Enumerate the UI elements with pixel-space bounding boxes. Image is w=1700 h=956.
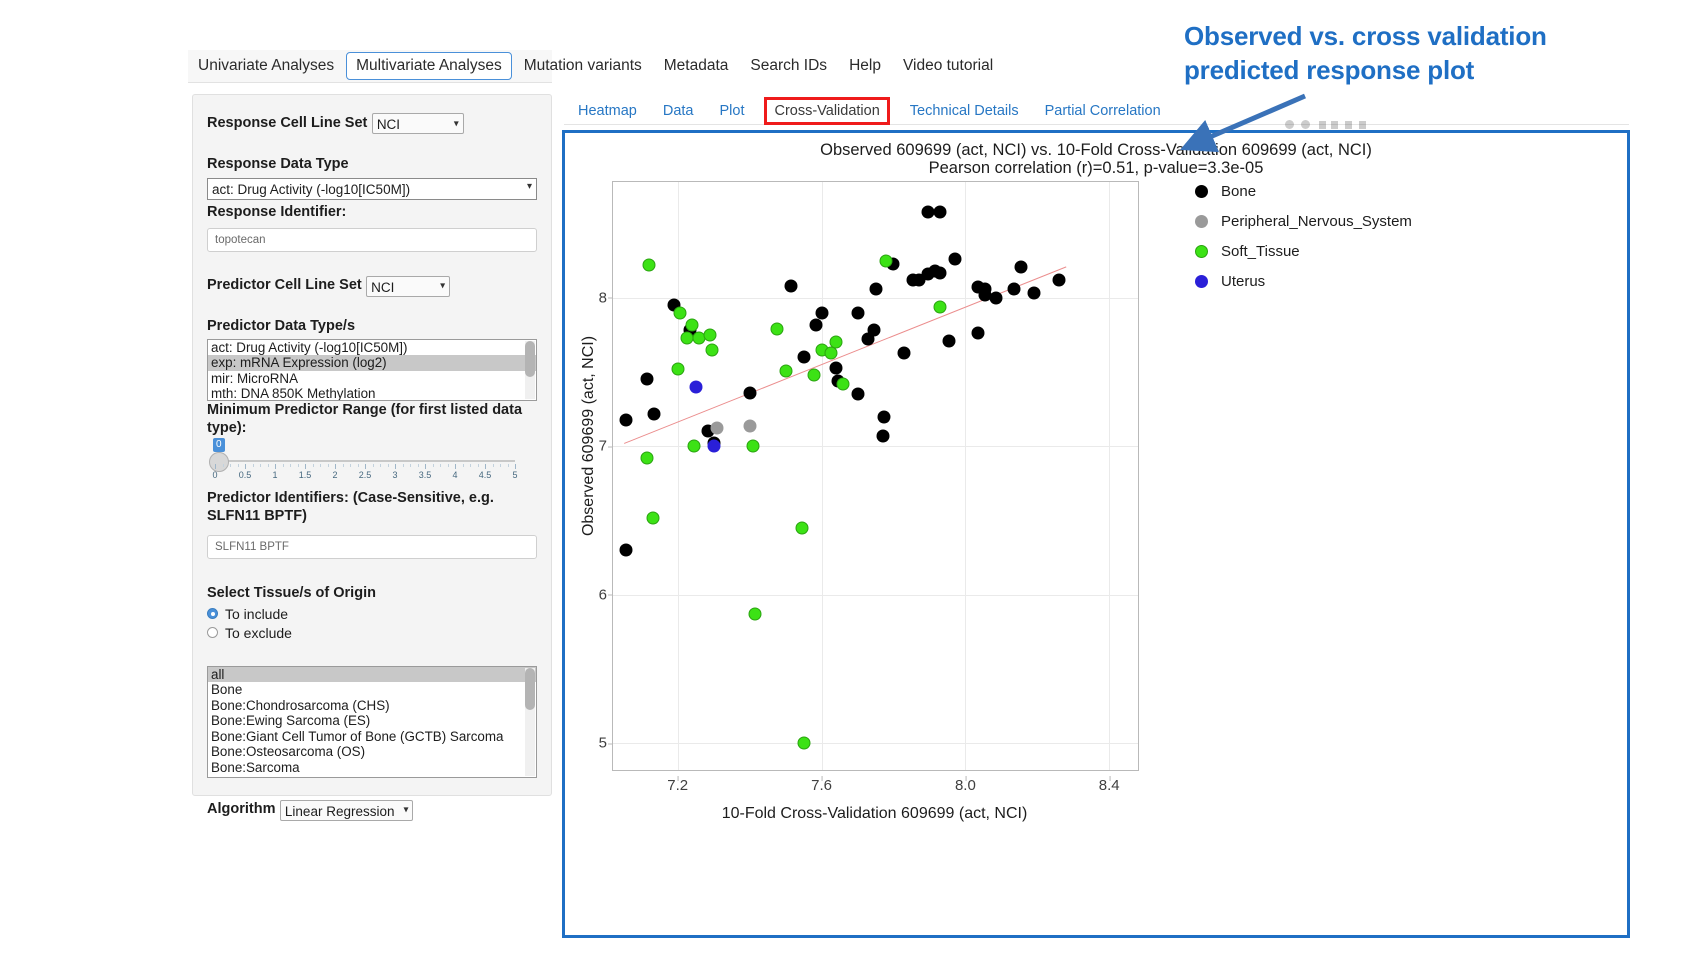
slider-tick-mark bbox=[215, 464, 216, 469]
slider-minor-tick bbox=[260, 464, 261, 467]
legend-color-dot bbox=[1195, 275, 1208, 288]
slider-minor-tick bbox=[373, 464, 374, 467]
chevron-down-icon: ▾ bbox=[527, 181, 532, 192]
gridline-horizontal bbox=[613, 595, 1138, 596]
scatter-point[interactable] bbox=[648, 407, 661, 420]
radio-include-label: To include bbox=[225, 606, 288, 622]
tissue-exclude-radio-row[interactable]: To exclude bbox=[207, 625, 537, 641]
slider-tick-label: 4 bbox=[452, 470, 457, 480]
x-axis-tick-mark bbox=[678, 776, 679, 781]
legend-item[interactable]: Uterus bbox=[1195, 273, 1412, 290]
slider-minor-tick bbox=[433, 464, 434, 467]
slider-minor-tick bbox=[508, 464, 509, 467]
slider-minor-tick bbox=[388, 464, 389, 467]
scatter-point[interactable] bbox=[641, 452, 654, 465]
legend-item-label: Peripheral_Nervous_System bbox=[1221, 213, 1412, 230]
slider-tick-mark bbox=[485, 464, 486, 469]
list-item[interactable]: Bone bbox=[208, 682, 536, 698]
annotation-text: Observed vs. cross validation predicted … bbox=[1184, 20, 1604, 88]
algorithm-select-wrap: Linear Regression ▾ bbox=[280, 800, 414, 821]
list-item[interactable]: mth: DNA 850K Methylation bbox=[208, 386, 536, 401]
legend-color-dot bbox=[1195, 215, 1208, 228]
slider-tick-label: 3.5 bbox=[419, 470, 432, 480]
response-cell-line-set-select[interactable]: NCI bbox=[372, 113, 464, 134]
slider-tick-label: 0 bbox=[212, 470, 217, 480]
scatter-point[interactable] bbox=[829, 361, 842, 374]
legend-color-dot bbox=[1195, 185, 1208, 198]
response-cell-line-set-label: Response Cell Line Set bbox=[207, 115, 367, 133]
tab-partial-correlation[interactable]: Partial Correlation bbox=[1045, 103, 1161, 119]
x-axis-tick-mark bbox=[965, 776, 966, 781]
nav-tab-video-tutorial[interactable]: Video tutorial bbox=[893, 52, 1003, 80]
scatter-point[interactable] bbox=[943, 334, 956, 347]
x-axis-tick-mark bbox=[1109, 776, 1110, 781]
autoscale-icon[interactable] bbox=[1345, 121, 1352, 129]
slider-minor-tick bbox=[238, 464, 239, 467]
nav-tab-mutation-variants[interactable]: Mutation variants bbox=[514, 52, 652, 80]
scatter-point[interactable] bbox=[971, 327, 984, 340]
slider-tick-label: 2 bbox=[332, 470, 337, 480]
scatter-point[interactable] bbox=[898, 346, 911, 359]
scatter-point[interactable] bbox=[743, 386, 756, 399]
slider-tick-mark bbox=[365, 464, 366, 469]
scatter-point[interactable] bbox=[829, 336, 842, 349]
scatter-point[interactable] bbox=[948, 253, 961, 266]
scatter-point[interactable] bbox=[851, 306, 864, 319]
slider-tick-label: 2.5 bbox=[359, 470, 372, 480]
scatter-point[interactable] bbox=[880, 254, 893, 267]
legend-color-dot bbox=[1195, 245, 1208, 258]
scatter-point[interactable] bbox=[1027, 287, 1040, 300]
predictor-data-types-listbox[interactable]: act: Drug Activity (-log10[IC50M]) exp: … bbox=[207, 339, 537, 401]
scatter-point[interactable] bbox=[687, 440, 700, 453]
radio-exclude[interactable] bbox=[207, 627, 218, 638]
annotation-arrow-icon bbox=[1175, 88, 1345, 158]
slider-tick-mark bbox=[305, 464, 306, 469]
legend-item-label: Bone bbox=[1221, 183, 1256, 200]
scatter-point[interactable] bbox=[795, 521, 808, 534]
slider-tick-label: 0.5 bbox=[239, 470, 252, 480]
y-axis-tick-mark bbox=[608, 595, 613, 596]
slider-tick-labels: 00.511.522.533.544.55 bbox=[207, 464, 527, 482]
gridline-vertical bbox=[678, 182, 679, 770]
scrollbar-thumb[interactable] bbox=[525, 341, 535, 377]
plot-title-line2: Pearson correlation (r)=0.51, p-value=3.… bbox=[565, 159, 1627, 177]
slider-minor-tick bbox=[290, 464, 291, 467]
scatter-point[interactable] bbox=[808, 369, 821, 382]
scatter-point[interactable] bbox=[704, 328, 717, 341]
scatter-point[interactable] bbox=[810, 318, 823, 331]
top-navbar: Univariate Analyses Multivariate Analyse… bbox=[188, 50, 1005, 82]
slider-tick-label: 5 bbox=[512, 470, 517, 480]
x-axis-tick-label: 7.6 bbox=[811, 777, 832, 794]
predictor-cell-line-set-label: Predictor Cell Line Set bbox=[207, 277, 362, 295]
app-root: Univariate Analyses Multivariate Analyse… bbox=[0, 0, 1700, 956]
legend-item[interactable]: Bone bbox=[1195, 183, 1412, 200]
tab-heatmap[interactable]: Heatmap bbox=[578, 103, 637, 119]
scatter-point[interactable] bbox=[673, 306, 686, 319]
y-axis-tick-mark bbox=[608, 743, 613, 744]
slider-minor-tick bbox=[470, 464, 471, 467]
gridline-vertical bbox=[1109, 182, 1110, 770]
tab-data[interactable]: Data bbox=[663, 103, 694, 119]
listbox-scrollbar[interactable] bbox=[525, 668, 535, 776]
slider-minor-tick bbox=[358, 464, 359, 467]
list-item[interactable]: Bone:Sarcoma bbox=[208, 760, 536, 776]
scatter-point[interactable] bbox=[619, 544, 632, 557]
scatter-point[interactable] bbox=[784, 279, 797, 292]
y-axis-tick-mark bbox=[608, 446, 613, 447]
scatter-point[interactable] bbox=[707, 440, 720, 453]
scatter-point[interactable] bbox=[671, 363, 684, 376]
legend-item-label: Uterus bbox=[1221, 273, 1265, 290]
scatter-point[interactable] bbox=[686, 318, 699, 331]
legend-item-label: Soft_Tissue bbox=[1221, 243, 1300, 260]
response-data-type-label: Response Data Type bbox=[207, 156, 537, 174]
y-axis-tick-label: 8 bbox=[599, 289, 607, 306]
slider-tick-label: 1 bbox=[272, 470, 277, 480]
slider-tick-mark bbox=[335, 464, 336, 469]
slider-minor-tick bbox=[448, 464, 449, 467]
scrollbar-thumb[interactable] bbox=[525, 668, 535, 710]
scatter-point[interactable] bbox=[869, 282, 882, 295]
x-axis-tick-label: 8.0 bbox=[955, 777, 976, 794]
cross-validation-plot-card: Observed 609699 (act, NCI) vs. 10-Fold C… bbox=[562, 130, 1630, 938]
y-axis-tick-mark bbox=[608, 298, 613, 299]
x-axis-label: 10-Fold Cross-Validation 609699 (act, NC… bbox=[612, 805, 1137, 823]
scatter-point[interactable] bbox=[711, 422, 724, 435]
list-item[interactable]: exp: mRNA Expression (log2) bbox=[208, 355, 536, 371]
tab-cross-validation[interactable]: Cross-Validation bbox=[764, 97, 889, 125]
scatter-point[interactable] bbox=[876, 429, 889, 442]
slider-tick-mark bbox=[515, 464, 516, 469]
slider-tick-label: 1.5 bbox=[299, 470, 312, 480]
scatter-point[interactable] bbox=[619, 413, 632, 426]
scatter-point[interactable] bbox=[1015, 260, 1028, 273]
slider-minor-tick bbox=[313, 464, 314, 467]
list-item[interactable]: act: Drug Activity (-log10[IC50M]) bbox=[208, 340, 536, 356]
slider-minor-tick bbox=[298, 464, 299, 467]
scatter-point[interactable] bbox=[689, 380, 702, 393]
slider-minor-tick bbox=[410, 464, 411, 467]
select-tissue-label: Select Tissue/s of Origin bbox=[207, 585, 537, 603]
controls-panel: Response Cell Line Set NCI ▾ Response Da… bbox=[192, 94, 552, 796]
slider-minor-tick bbox=[328, 464, 329, 467]
slider-tick-mark bbox=[425, 464, 426, 469]
list-item[interactable]: Peripheral_Nervous_System bbox=[208, 775, 536, 778]
list-item[interactable]: Bone:Chondrosarcoma (CHS) bbox=[208, 698, 536, 714]
scatter-point[interactable] bbox=[747, 440, 760, 453]
scatter-point[interactable] bbox=[749, 608, 762, 621]
slider-minor-tick bbox=[343, 464, 344, 467]
reset-axes-icon[interactable] bbox=[1359, 121, 1366, 129]
scatter-point[interactable] bbox=[934, 300, 947, 313]
slider-tick-mark bbox=[275, 464, 276, 469]
scatter-point[interactable] bbox=[934, 266, 947, 279]
slider-minor-tick bbox=[283, 464, 284, 467]
scatter-point[interactable] bbox=[837, 377, 850, 390]
slider-minor-tick bbox=[223, 464, 224, 467]
y-axis-tick-label: 7 bbox=[599, 438, 607, 455]
min-predictor-range-slider[interactable]: 0 00.511.522.533.544.55 bbox=[207, 438, 537, 484]
list-item[interactable]: Bone:Ewing Sarcoma (ES) bbox=[208, 713, 536, 729]
legend-item[interactable]: Peripheral_Nervous_System bbox=[1195, 213, 1412, 230]
slider-tick-mark bbox=[455, 464, 456, 469]
radio-exclude-label: To exclude bbox=[225, 625, 292, 641]
slider-minor-tick bbox=[440, 464, 441, 467]
slider-minor-tick bbox=[380, 464, 381, 467]
nav-tab-metadata[interactable]: Metadata bbox=[654, 52, 739, 80]
slider-minor-tick bbox=[230, 464, 231, 467]
slider-minor-tick bbox=[493, 464, 494, 467]
slider-minor-tick bbox=[268, 464, 269, 467]
slider-track[interactable] bbox=[215, 460, 515, 462]
tab-plot[interactable]: Plot bbox=[719, 103, 744, 119]
slider-value-bubble: 0 bbox=[213, 438, 225, 452]
x-axis-tick-label: 7.2 bbox=[667, 777, 688, 794]
scatter-point[interactable] bbox=[797, 737, 810, 750]
plot-tabbar: Heatmap Data Plot Cross-Validation Techn… bbox=[578, 97, 1187, 125]
scatter-point[interactable] bbox=[797, 351, 810, 364]
y-axis-tick-label: 6 bbox=[599, 586, 607, 603]
scatter-point[interactable] bbox=[705, 343, 718, 356]
slider-minor-tick bbox=[403, 464, 404, 467]
legend-item[interactable]: Soft_Tissue bbox=[1195, 243, 1412, 260]
tissue-include-radio-row[interactable]: To include bbox=[207, 606, 537, 622]
list-item[interactable]: Bone:Osteosarcoma (OS) bbox=[208, 744, 536, 760]
nav-tab-multivariate-analyses[interactable]: Multivariate Analyses bbox=[346, 52, 512, 80]
min-predictor-range-label: Minimum Predictor Range (for first liste… bbox=[207, 402, 525, 438]
y-axis-tick-label: 5 bbox=[599, 735, 607, 752]
plot-legend: BonePeripheral_Nervous_SystemSoft_Tissue… bbox=[1195, 183, 1412, 303]
response-identifier-label: Response Identifier: bbox=[207, 204, 537, 222]
slider-minor-tick bbox=[478, 464, 479, 467]
predictor-data-types-label: Predictor Data Type/s bbox=[207, 318, 537, 336]
scatter-point[interactable] bbox=[1007, 282, 1020, 295]
gridline-vertical bbox=[822, 182, 823, 770]
response-cell-line-set-select-wrap: NCI ▾ bbox=[372, 113, 464, 134]
scatter-point[interactable] bbox=[641, 373, 654, 386]
slider-minor-tick bbox=[463, 464, 464, 467]
scatter-point[interactable] bbox=[989, 291, 1002, 304]
gridline-vertical bbox=[965, 182, 966, 770]
slider-tick-mark bbox=[245, 464, 246, 469]
algorithm-label: Algorithm bbox=[207, 801, 275, 819]
predictor-identifiers-input[interactable] bbox=[207, 535, 537, 559]
predictor-cell-line-set-select-wrap: NCI ▾ bbox=[366, 276, 450, 297]
scatter-plot-axes[interactable]: 7.27.68.08.45678 bbox=[612, 181, 1139, 771]
plot-title: Observed 609699 (act, NCI) vs. 10-Fold C… bbox=[565, 141, 1627, 178]
list-item[interactable]: mir: MicroRNA bbox=[208, 371, 536, 387]
list-item[interactable]: all bbox=[208, 667, 536, 683]
predictor-identifiers-label: Predictor Identifiers: (Case-Sensitive, … bbox=[207, 490, 527, 526]
nav-tab-search-ids[interactable]: Search IDs bbox=[740, 52, 837, 80]
y-axis-label: Observed 609699 (act, NCI) bbox=[580, 226, 598, 646]
scatter-point[interactable] bbox=[815, 306, 828, 319]
slider-minor-tick bbox=[500, 464, 501, 467]
predictor-cell-line-set-select[interactable]: NCI bbox=[366, 276, 450, 297]
slider-minor-tick bbox=[253, 464, 254, 467]
slider-minor-tick bbox=[418, 464, 419, 467]
response-data-type-select[interactable]: act: Drug Activity (-log10[IC50M]) bbox=[207, 178, 537, 200]
tissue-listbox[interactable]: all Bone Bone:Chondrosarcoma (CHS) Bone:… bbox=[207, 666, 537, 778]
response-identifier-input[interactable] bbox=[207, 228, 537, 252]
scatter-point[interactable] bbox=[867, 324, 880, 337]
scatter-point[interactable] bbox=[779, 364, 792, 377]
scatter-point[interactable] bbox=[921, 205, 934, 218]
gridline-horizontal bbox=[613, 743, 1138, 744]
scatter-point[interactable] bbox=[1052, 274, 1065, 287]
algorithm-select[interactable]: Linear Regression bbox=[280, 800, 414, 821]
scatter-point[interactable] bbox=[851, 388, 864, 401]
slider-minor-tick bbox=[320, 464, 321, 467]
scatter-point[interactable] bbox=[642, 259, 655, 272]
slider-tick-label: 3 bbox=[392, 470, 397, 480]
slider-tick-label: 4.5 bbox=[479, 470, 492, 480]
tab-technical-details[interactable]: Technical Details bbox=[910, 103, 1019, 119]
nav-tab-univariate-analyses[interactable]: Univariate Analyses bbox=[188, 52, 344, 80]
gridline-horizontal bbox=[613, 298, 1138, 299]
listbox-scrollbar[interactable] bbox=[525, 341, 535, 399]
x-axis-tick-label: 8.4 bbox=[1099, 777, 1120, 794]
scatter-point[interactable] bbox=[878, 410, 891, 423]
radio-include[interactable] bbox=[207, 608, 218, 619]
scatter-point[interactable] bbox=[934, 205, 947, 218]
x-axis-tick-mark bbox=[822, 776, 823, 781]
slider-tick-mark bbox=[395, 464, 396, 469]
scatter-point[interactable] bbox=[743, 419, 756, 432]
nav-tab-help[interactable]: Help bbox=[839, 52, 891, 80]
scatter-point[interactable] bbox=[770, 323, 783, 336]
list-item[interactable]: Bone:Giant Cell Tumor of Bone (GCTB) Sar… bbox=[208, 729, 536, 745]
scatter-point[interactable] bbox=[646, 511, 659, 524]
scatter-point[interactable] bbox=[680, 331, 693, 344]
slider-minor-tick bbox=[350, 464, 351, 467]
